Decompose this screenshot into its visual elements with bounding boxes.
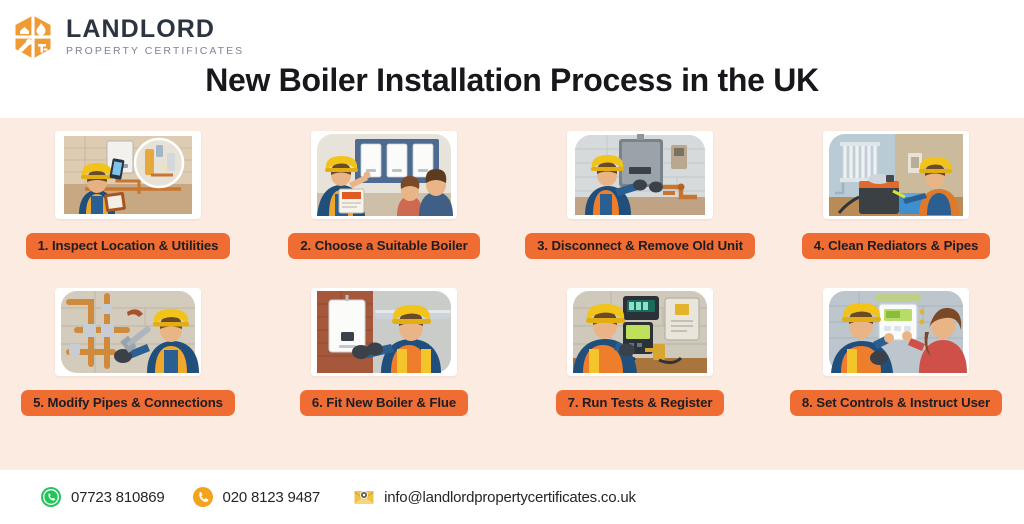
step-label-2: 2. Choose a Suitable Boiler (288, 233, 479, 259)
infographic-page: LANDLORD PROPERTY CERTIFICATES New Boile… (0, 0, 1024, 524)
step-card-8[interactable]: 8. Set Controls & Instruct User (768, 288, 1024, 416)
step-card-3[interactable]: 3. Disconnect & Remove Old Unit (512, 131, 768, 259)
whatsapp-icon (40, 486, 62, 508)
step-label-7: 7. Run Tests & Register (556, 390, 725, 416)
page-title: New Boiler Installation Process in the U… (0, 62, 1024, 99)
step-card-7[interactable]: 7. Run Tests & Register (512, 288, 768, 416)
footer-bar: 07723 810869 020 8123 9487 (0, 470, 1024, 524)
step-label-5: 5. Modify Pipes & Connections (21, 390, 235, 416)
step-label-3: 3. Disconnect & Remove Old Unit (525, 233, 755, 259)
contact-email[interactable]: info@landlordpropertycertificates.co.uk (353, 486, 636, 508)
step-label-8: 8. Set Controls & Instruct User (790, 390, 1002, 416)
engineer-presenting-boiler-options-to-couple-illustration (311, 131, 457, 219)
step-card-2[interactable]: 2. Choose a Suitable Boiler (256, 131, 512, 259)
steps-row-2: 5. Modify Pipes & Connections (0, 288, 1024, 416)
steps-row-1: 1. Inspect Location & Utilities (0, 131, 1024, 259)
steps-area: 1. Inspect Location & Utilities (0, 118, 1024, 470)
step-label-6: 6. Fit New Boiler & Flue (300, 390, 468, 416)
brand-name: LANDLORD (66, 17, 244, 42)
engineer-with-wrench-on-copper-pipes-illustration (55, 288, 201, 376)
inspector-with-clipboard-and-magnifier-illustration (55, 131, 201, 219)
power-flush-radiator-cleaning-illustration (823, 131, 969, 219)
email-address: info@landlordpropertycertificates.co.uk (384, 489, 636, 506)
step-card-5[interactable]: 5. Modify Pipes & Connections (0, 288, 256, 416)
engineer-explaining-thermostat-to-customer-illustration (823, 288, 969, 376)
phone-number: 020 8123 9487 (223, 489, 321, 506)
brand-tagline: PROPERTY CERTIFICATES (66, 46, 244, 57)
header-bar: LANDLORD PROPERTY CERTIFICATES New Boile… (0, 0, 1024, 118)
hexagon-quadrant-logo-icon (10, 14, 56, 60)
step-card-6[interactable]: 6. Fit New Boiler & Flue (256, 288, 512, 416)
whatsapp-number: 07723 810869 (71, 489, 165, 506)
engineer-fitting-new-boiler-and-flue-illustration (311, 288, 457, 376)
phone-icon (192, 486, 214, 508)
step-card-4[interactable]: 4. Clean Rediators & Pipes (768, 131, 1024, 259)
step-label-1: 1. Inspect Location & Utilities (26, 233, 231, 259)
step-card-1[interactable]: 1. Inspect Location & Utilities (0, 131, 256, 259)
email-envelope-icon (353, 486, 375, 508)
brand-logo[interactable]: LANDLORD PROPERTY CERTIFICATES (10, 14, 244, 60)
contact-whatsapp[interactable]: 07723 810869 (40, 486, 165, 508)
step-label-4: 4. Clean Rediators & Pipes (802, 233, 991, 259)
contact-phone[interactable]: 020 8123 9487 (192, 486, 321, 508)
engineer-removing-old-boiler-illustration (567, 131, 713, 219)
engineer-running-gas-analyser-tests-illustration (567, 288, 713, 376)
